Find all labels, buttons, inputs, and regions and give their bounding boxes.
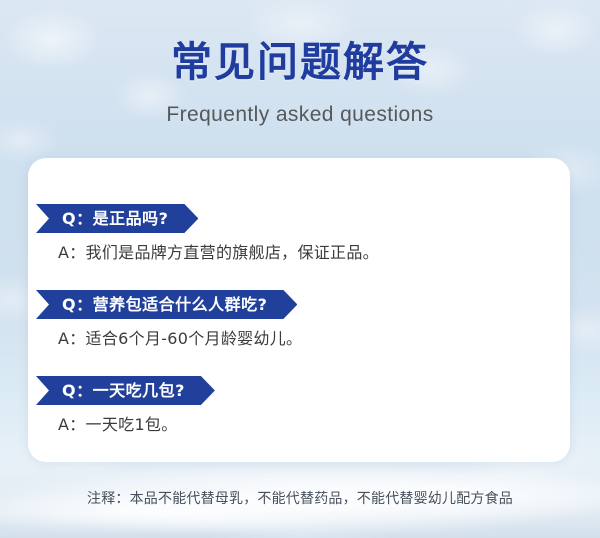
answer-text-3: A：一天吃1包。: [58, 414, 570, 436]
answer-text-2: A：适合6个月-60个月龄婴幼儿。: [58, 328, 570, 350]
list-item: Q：是正品吗? A：我们是品牌方直营的旗舰店，保证正品。: [36, 204, 570, 290]
list-item: Q：一天吃几包? A：一天吃1包。: [36, 376, 570, 462]
footer-note: 注释：本品不能代替母乳，不能代替药品，不能代替婴幼儿配方食品: [0, 489, 600, 509]
faq-list: Q：是正品吗? A：我们是品牌方直营的旗舰店，保证正品。 Q：营养包适合什么人群…: [36, 204, 570, 462]
list-item: Q：营养包适合什么人群吃? A：适合6个月-60个月龄婴幼儿。: [36, 290, 570, 376]
page-title: 常见问题解答: [0, 0, 600, 86]
faq-card: Q：是正品吗? A：我们是品牌方直营的旗舰店，保证正品。 Q：营养包适合什么人群…: [28, 158, 570, 462]
answer-text-1: A：我们是品牌方直营的旗舰店，保证正品。: [58, 242, 570, 264]
question-badge-1[interactable]: Q：是正品吗?: [36, 204, 198, 233]
question-badge-2[interactable]: Q：营养包适合什么人群吃?: [36, 290, 297, 319]
page-subtitle: Frequently asked questions: [0, 86, 600, 128]
faq-page: 常见问题解答 Frequently asked questions Q：是正品吗…: [0, 0, 600, 538]
question-badge-3[interactable]: Q：一天吃几包?: [36, 376, 215, 405]
page-header: 常见问题解答 Frequently asked questions: [0, 0, 600, 128]
